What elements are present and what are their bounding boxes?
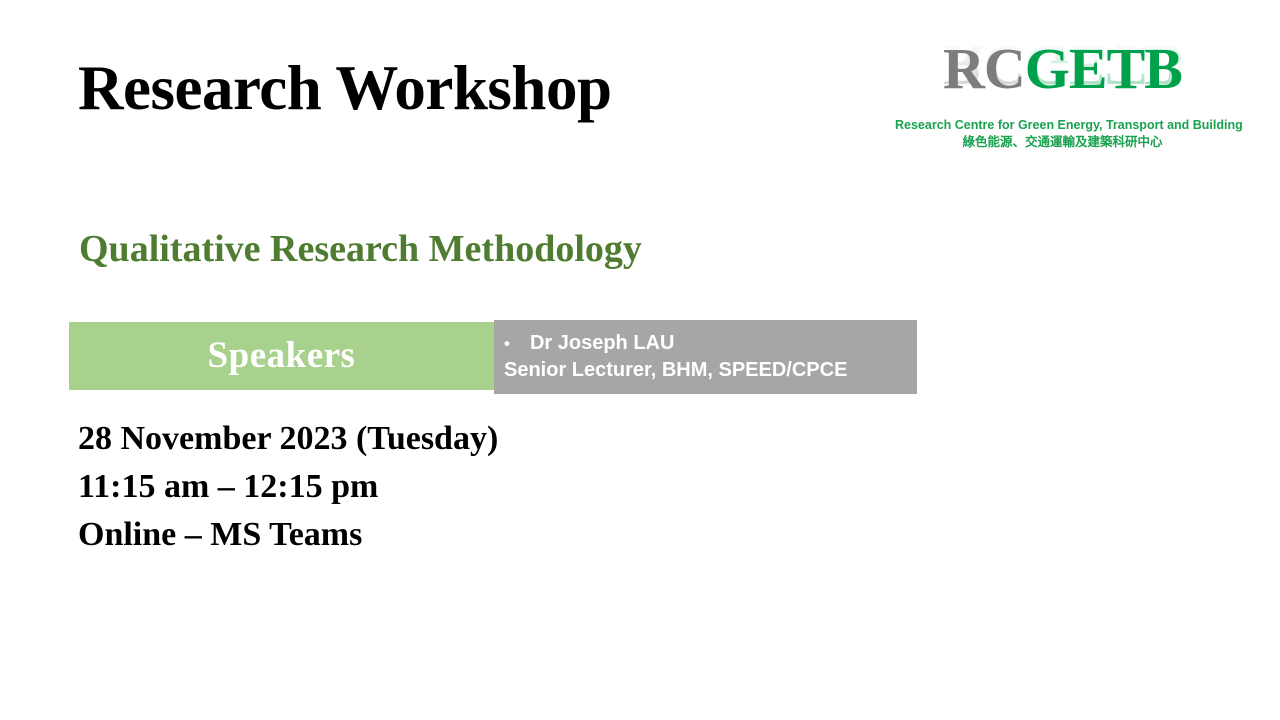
logo-wordmark-getb: GETB (1025, 38, 1182, 101)
slide-canvas: Research Workshop RCGETB RCGETB Research… (0, 0, 1280, 720)
speaker-name-row: • Dr Joseph LAU (504, 330, 917, 357)
event-time: 11:15 am – 12:15 pm (78, 463, 498, 511)
logo-wordmark-rc: RC (943, 38, 1025, 101)
speakers-table: Speakers • Dr Joseph LAU Senior Lecturer… (69, 320, 917, 394)
logo-wordmark-wrap: RCGETB RCGETB (895, 38, 1230, 112)
speakers-header-label: Speakers (208, 335, 356, 377)
event-date: 28 November 2023 (Tuesday) (78, 415, 498, 463)
speakers-header-cell: Speakers (69, 322, 494, 390)
speaker-name: Dr Joseph LAU (530, 330, 674, 357)
bullet-icon: • (504, 330, 510, 357)
logo-subtitle-english: Research Centre for Green Energy, Transp… (895, 118, 1230, 133)
logo-wordmark: RCGETB (895, 38, 1230, 100)
speaker-title: Senior Lecturer, BHM, SPEED/CPCE (504, 357, 917, 384)
event-details: 28 November 2023 (Tuesday) 11:15 am – 12… (78, 415, 498, 559)
event-venue: Online – MS Teams (78, 511, 498, 559)
logo-subtitle-chinese: 綠色能源、交通運輸及建築科研中心 (895, 134, 1230, 150)
speakers-details-cell: • Dr Joseph LAU Senior Lecturer, BHM, SP… (494, 320, 917, 394)
workshop-topic: Qualitative Research Methodology (79, 226, 642, 272)
page-title: Research Workshop (78, 57, 612, 120)
rcgetb-logo: RCGETB RCGETB Research Centre for Green … (895, 38, 1230, 156)
